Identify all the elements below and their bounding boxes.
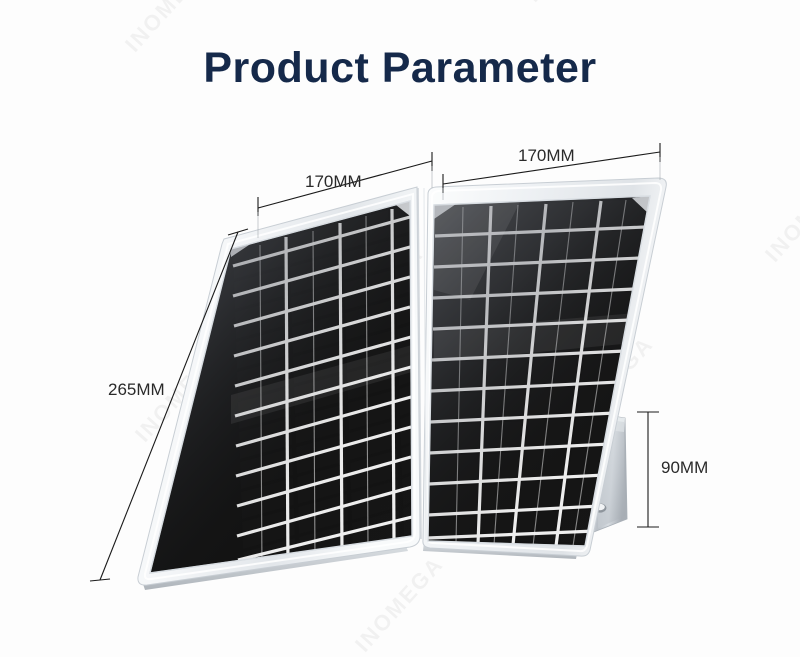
dimension-label-panel-height: 265MM [108,380,165,400]
page-title: Product Parameter [0,44,800,93]
solar-panel-right [420,178,670,560]
solar-panel-left [138,187,430,590]
dimension-bracket-height [637,412,659,527]
solar-cell-grid-right [420,185,670,560]
dimension-label-panel-left-width: 170MM [305,172,362,192]
dimension-label-panel-right-width: 170MM [518,146,575,166]
product-parameter-figure: INOMEGA INOMEGA INOMEGA INOMEGA INOMEGA … [0,0,800,617]
solar-cell-grid-left [140,190,430,590]
dimension-label-bracket-height: 90MM [661,458,708,478]
